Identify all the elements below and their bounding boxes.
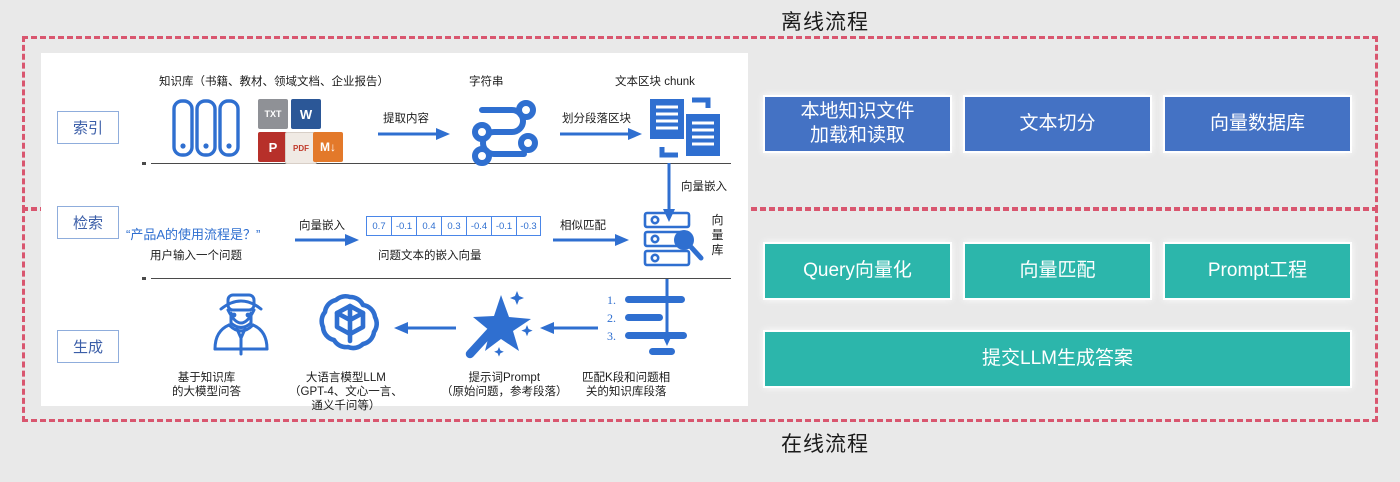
split-chunks-arrow: [560, 127, 644, 141]
row-divider-retrieve-generate: [151, 278, 731, 279]
matched-chunks-list-icon: 1. 2. 3.: [607, 293, 703, 363]
offline-box-vector-database[interactable]: 向量数据库: [1163, 95, 1352, 153]
offline-box-text-splitting[interactable]: 文本切分: [963, 95, 1152, 153]
online-box-submit-llm-answer[interactable]: 提交LLM生成答案: [763, 330, 1352, 388]
online-box-vector-matching[interactable]: 向量匹配: [963, 242, 1152, 300]
vector-cell: -0.1: [491, 216, 516, 236]
books-icon: [171, 98, 243, 163]
similarity-match-label: 相似匹配: [560, 217, 606, 233]
vector-embedding-label-index: 向量嵌入: [681, 178, 727, 194]
kb-qa-caption: 基于知识库 的大模型问答: [172, 371, 241, 399]
vector-cell: 0.3: [441, 216, 466, 236]
offline-box-local-knowledge-file[interactable]: 本地知识文件 加载和读取: [763, 95, 952, 153]
list-number-3: 3.: [607, 329, 616, 344]
person-qa-icon: [207, 289, 275, 370]
vector-cell: -0.1: [391, 216, 416, 236]
diagram-canvas: 离线流程 在线流程 知识库（书籍、教材、领域文档、企业报告） TXT W: [0, 0, 1400, 482]
stage-label-index: 索引: [57, 111, 119, 144]
embedding-vector-caption: 问题文本的嵌入向量: [378, 249, 482, 263]
vector-cell: -0.3: [516, 216, 541, 236]
word-file-icon: W: [291, 99, 321, 129]
stage-label-retrieve: 检索: [57, 206, 119, 239]
online-flow-title: 在线流程: [781, 428, 869, 458]
stage-label-generate: 生成: [57, 330, 119, 363]
prompt-caption: 提示词Prompt （原始问题，参考段落）: [441, 371, 568, 399]
offline-flow-title: 离线流程: [781, 6, 869, 36]
llm-caption: 大语言模型LLM （GPT-4、文心一言、 通义千问等）: [289, 371, 403, 413]
vector-embedding-label-retrieve: 向量嵌入: [299, 217, 345, 233]
user-question-text: “产品A的使用流程是？”: [126, 228, 260, 242]
online-box-query-vectorization[interactable]: Query向量化: [763, 242, 952, 300]
matched-chunks-caption: 匹配K段和问题相 关的知识库段落: [582, 371, 670, 399]
list-number-1: 1.: [607, 293, 616, 308]
powerpoint-file-icon: P: [258, 132, 288, 162]
user-question-caption: 用户输入一个问题: [150, 249, 242, 263]
vector-database-search-icon: [643, 211, 705, 274]
string-caption: 字符串: [469, 75, 504, 89]
extract-content-label: 提取内容: [383, 110, 429, 126]
online-box-prompt-engineering[interactable]: Prompt工程: [1163, 242, 1352, 300]
txt-file-icon: TXT: [258, 99, 288, 129]
vector-embedding-arrow-retrieve: [295, 233, 361, 247]
list-number-2: 2.: [607, 311, 616, 326]
vector-db-label: 向量库: [711, 213, 724, 258]
magic-wand-prompt-icon: [459, 289, 535, 366]
chunks-to-prompt-arrow: [538, 321, 600, 335]
knowledge-base-caption: 知识库（书籍、教材、领域文档、企业报告）: [159, 75, 389, 89]
vector-cell: 0.7: [366, 216, 391, 236]
chunk-caption: 文本区块 chunk: [615, 75, 695, 89]
similarity-match-arrow: [553, 233, 631, 247]
string-node-icon: [462, 97, 546, 176]
row-divider-index-retrieve: [151, 163, 731, 164]
openai-llm-icon: [315, 289, 385, 364]
prompt-to-llm-arrow: [392, 321, 458, 335]
split-chunks-label: 划分段落区块: [562, 110, 631, 126]
embedding-vector-cells: 0.7 -0.1 0.4 0.3 -0.4 -0.1 -0.3: [366, 216, 541, 236]
vector-cell: -0.4: [466, 216, 491, 236]
extract-content-arrow: [378, 127, 452, 141]
vector-cell: 0.4: [416, 216, 441, 236]
text-chunks-icon: [648, 97, 726, 164]
markdown-file-icon: M↓: [313, 132, 343, 162]
